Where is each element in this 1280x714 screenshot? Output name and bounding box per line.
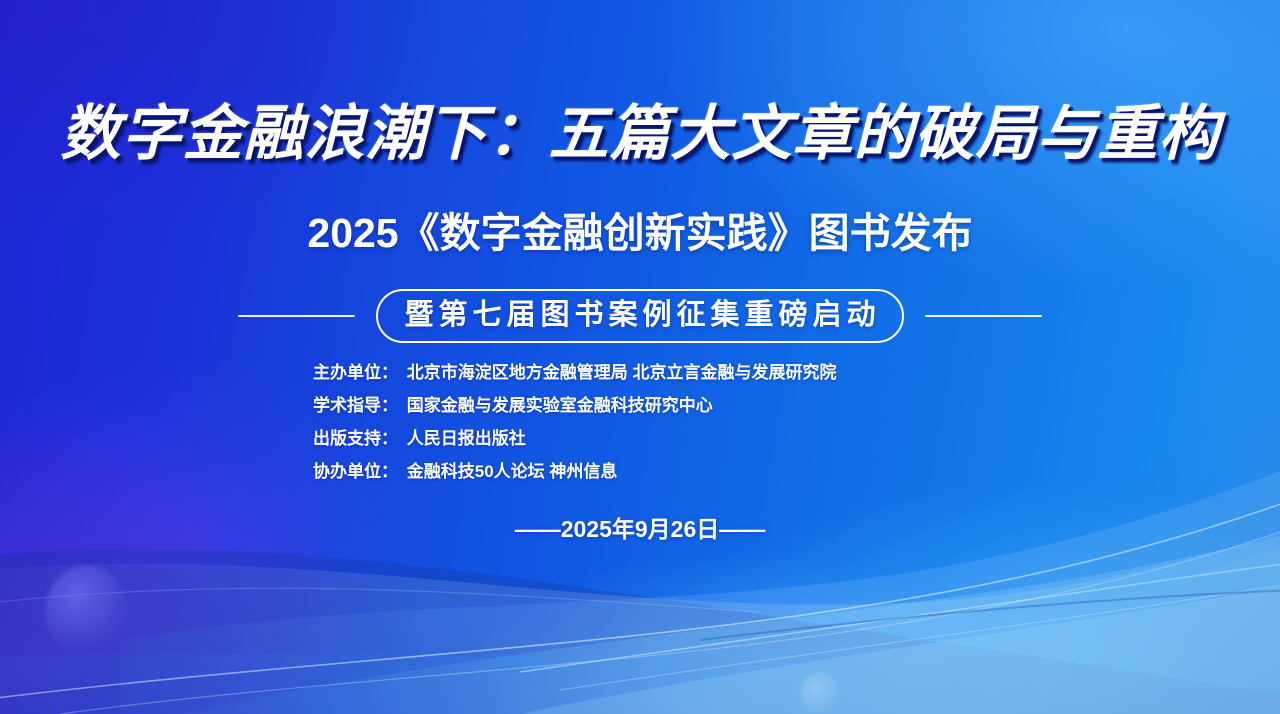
banner-subtitle: 2025《数字金融创新实践》图书发布 [0, 211, 1280, 256]
event-banner: 数字金融浪潮下：五篇大文章的破局与重构 2025《数字金融创新实践》图书发布 暨… [0, 0, 1280, 714]
organizer-label: 出版支持： [313, 429, 398, 448]
organizer-label: 主办单位： [313, 363, 398, 382]
organizer-label: 协办单位： [313, 462, 398, 481]
organizer-label: 学术指导： [313, 396, 398, 415]
organizer-value: 北京市海淀区地方金融管理局 北京立言金融与发展研究院 [407, 363, 837, 382]
organizer-value: 国家金融与发展实验室金融科技研究中心 [407, 396, 713, 415]
organizer-row: 出版支持： 人民日报出版社 [313, 427, 836, 450]
organizer-row: 学术指导： 国家金融与发展实验室金融科技研究中心 [313, 394, 836, 417]
launch-announcement-text: 暨第七届图书案例征集重磅启动 [404, 297, 880, 333]
banner-content: 数字金融浪潮下：五篇大文章的破局与重构 2025《数字金融创新实践》图书发布 暨… [0, 0, 1280, 714]
organizer-value: 人民日报出版社 [407, 429, 526, 448]
organizer-row: 主办单位： 北京市海淀区地方金融管理局 北京立言金融与发展研究院 [313, 361, 836, 384]
organizer-value: 金融科技50人论坛 神州信息 [407, 462, 618, 481]
organizer-list: 主办单位： 北京市海淀区地方金融管理局 北京立言金融与发展研究院 学术指导： 国… [313, 361, 836, 483]
launch-announcement-pill: 暨第七届图书案例征集重磅启动 [376, 289, 903, 343]
banner-main-title: 数字金融浪潮下：五篇大文章的破局与重构 [0, 104, 1280, 164]
decorative-dash-right [925, 315, 1042, 317]
decorative-dash-left [238, 315, 355, 317]
organizer-row: 协办单位： 金融科技50人论坛 神州信息 [313, 460, 836, 483]
event-date: ——2025年9月26日—— [0, 516, 1280, 544]
launch-announcement-row: 暨第七届图书案例征集重磅启动 [0, 289, 1280, 343]
